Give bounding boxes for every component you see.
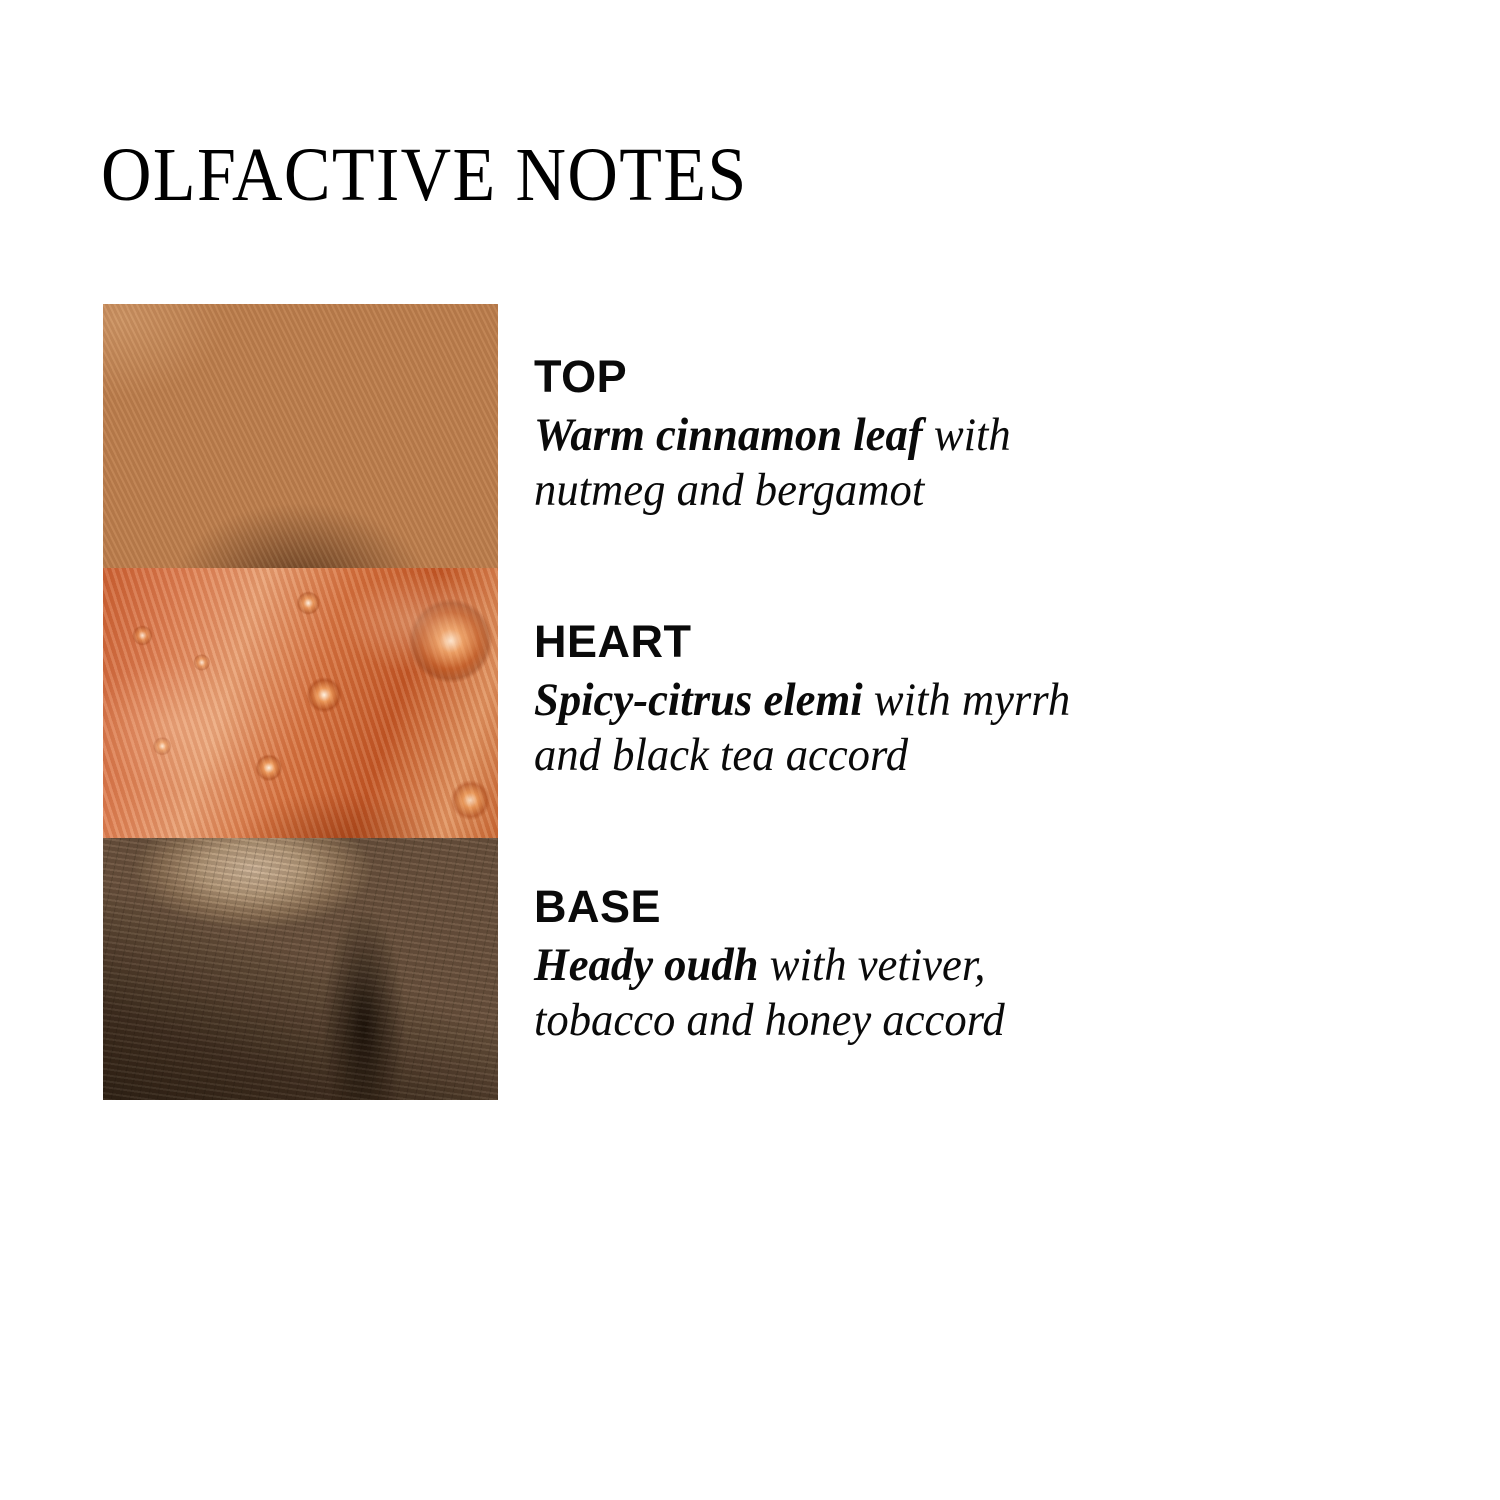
cinnamon-texture bbox=[103, 304, 498, 568]
page-title: OLFACTIVE NOTES bbox=[101, 137, 748, 213]
bark-texture bbox=[103, 838, 498, 1100]
note-accent-base: Heady oudh bbox=[534, 939, 758, 991]
resin-texture bbox=[103, 568, 498, 838]
note-accent-top: Warm cinnamon leaf bbox=[534, 409, 923, 461]
amber-resin-droplets-photo bbox=[103, 568, 498, 838]
notes-block: TOP Warm cinnamon leaf with nutmeg and b… bbox=[103, 304, 1163, 1100]
note-image-column bbox=[103, 304, 498, 1100]
note-text-column: TOP Warm cinnamon leaf with nutmeg and b… bbox=[534, 304, 1164, 1100]
note-entry-top: TOP Warm cinnamon leaf with nutmeg and b… bbox=[534, 354, 1164, 519]
note-label-base: BASE bbox=[534, 884, 1164, 930]
note-description-heart: Spicy-citrus elemi with myrrh and black … bbox=[534, 673, 1133, 784]
cinnamon-sticks-photo bbox=[103, 304, 498, 568]
note-description-top: Warm cinnamon leaf with nutmeg and berga… bbox=[534, 408, 1133, 519]
note-entry-base: BASE Heady oudh with vetiver, tobacco an… bbox=[534, 884, 1164, 1049]
tree-bark-photo bbox=[103, 838, 498, 1100]
note-label-top: TOP bbox=[534, 354, 1164, 400]
note-label-heart: HEART bbox=[534, 619, 1164, 665]
note-accent-heart: Spicy-citrus elemi bbox=[534, 674, 863, 726]
olfactive-notes-page: OLFACTIVE NOTES TOP Warm cinnamon leaf w… bbox=[0, 0, 1500, 1500]
note-description-base: Heady oudh with vetiver, tobacco and hon… bbox=[534, 938, 1133, 1049]
note-entry-heart: HEART Spicy-citrus elemi with myrrh and … bbox=[534, 619, 1164, 784]
